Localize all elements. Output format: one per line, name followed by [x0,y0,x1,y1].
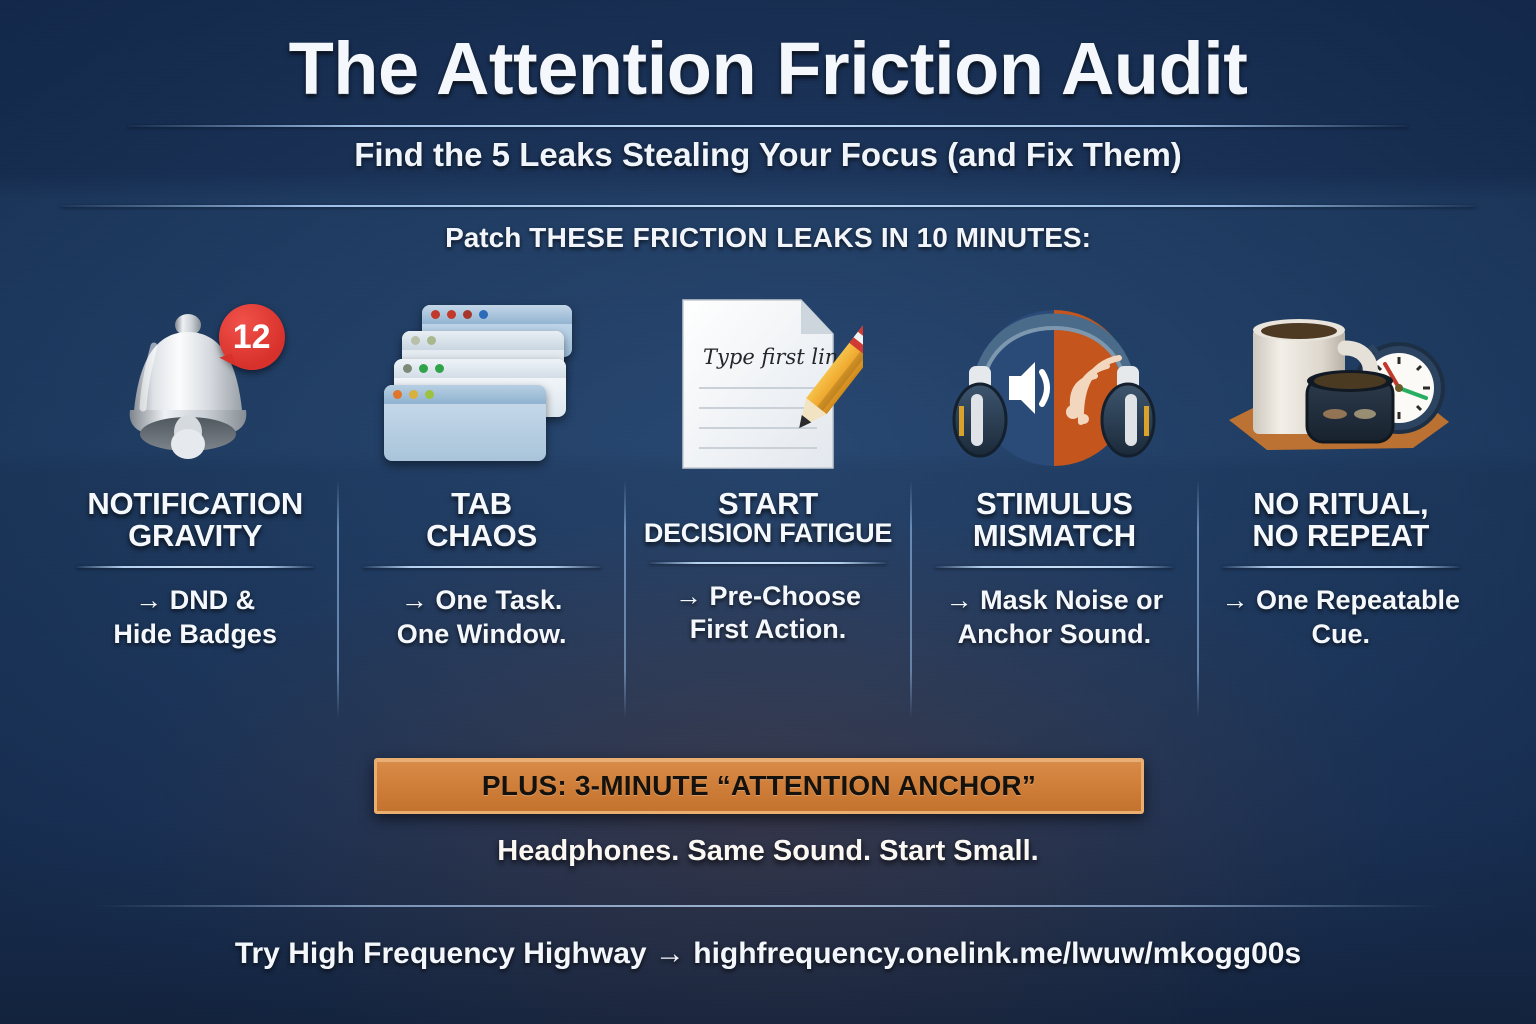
leak-action: → Pre-Choose First Action. [675,580,861,648]
kicker-suffix: IN 10 MINUTES: [873,222,1091,253]
dot-green [435,364,444,373]
window-front [384,385,546,461]
leak-heading: TAB CHAOS [426,484,537,552]
notification-badge: 12 [219,304,285,370]
column-divider [1222,566,1460,568]
leak-heading: NOTIFICATION GRAVITY [87,484,303,552]
page-title: The Attention Friction Audit [0,26,1536,111]
leak-column-notification-gravity: 12 NOTIFICATION GRAVITY → DND & Hide Bad… [52,288,338,728]
leaks-grid: 12 NOTIFICATION GRAVITY → DND & Hide Bad… [52,288,1484,728]
icon-slot [1206,288,1476,484]
dot-orange [393,390,402,399]
dot-blue [479,310,488,319]
leak-heading: START DECISION FATIGUE [644,484,892,548]
leak-heading: STIMULUS MISMATCH [973,484,1136,552]
title-divider [128,125,1408,127]
kicker-emphasis: THESE FRICTION LEAKS [529,222,873,253]
leak-heading: NO RITUAL, NO REPEAT [1252,484,1429,552]
leak-column-start-decision-fatigue: Type first line. START [625,288,911,728]
mug-clock-ritual-icon [1223,302,1458,470]
icon-slot: 12 [60,288,330,484]
column-divider [935,566,1173,568]
kicker-prefix: Patch [445,222,529,253]
dot-gray [403,364,412,373]
dot-red [431,310,440,319]
bell-notification-icon: 12 [108,306,283,466]
dot-red [463,310,472,319]
dot-olive [427,336,436,345]
headphones-icon [947,302,1162,470]
page-subtitle: Find the 5 Leaks Stealing Your Focus (an… [0,136,1536,174]
attention-anchor-banner[interactable]: PLUS: 3-MINUTE “ATTENTION ANCHOR” [374,758,1144,814]
icon-slot [346,288,616,484]
footer-cta-link[interactable]: Try High Frequency Highway → highfrequen… [0,937,1536,971]
leak-action: → DND & Hide Badges [113,584,277,652]
icon-slot: Type first line. [633,288,903,484]
kicker-line: Patch THESE FRICTION LEAKS IN 10 MINUTES… [0,222,1536,254]
banner-tagline: Headphones. Same Sound. Start Small. [0,835,1536,868]
note-and-pencil-icon: Type first line. [673,296,863,476]
leak-column-tab-chaos: TAB CHAOS → One Task. One Window. [338,288,624,728]
column-divider [76,566,314,568]
icon-slot [919,288,1189,484]
column-divider [649,562,887,564]
stacked-windows-icon [384,301,580,471]
footer-divider [96,905,1440,907]
dot-olive [411,336,420,345]
column-divider [363,566,601,568]
subtitle-divider [60,205,1476,207]
leak-column-stimulus-mismatch: STIMULUS MISMATCH → Mask Noise or Anchor… [911,288,1197,728]
leak-action: → Mask Noise or Anchor Sound. [946,584,1164,652]
dot-red [447,310,456,319]
dot-green [419,364,428,373]
banner-label: PLUS: 3-MINUTE “ATTENTION ANCHOR” [482,770,1036,802]
leak-action: → One Repeatable Cue. [1222,584,1461,652]
dot-lime [425,390,434,399]
leak-column-no-ritual-no-repeat: NO RITUAL, NO REPEAT → One Repeatable Cu… [1198,288,1484,728]
leak-action: → One Task. One Window. [397,584,567,652]
dot-yellow [409,390,418,399]
